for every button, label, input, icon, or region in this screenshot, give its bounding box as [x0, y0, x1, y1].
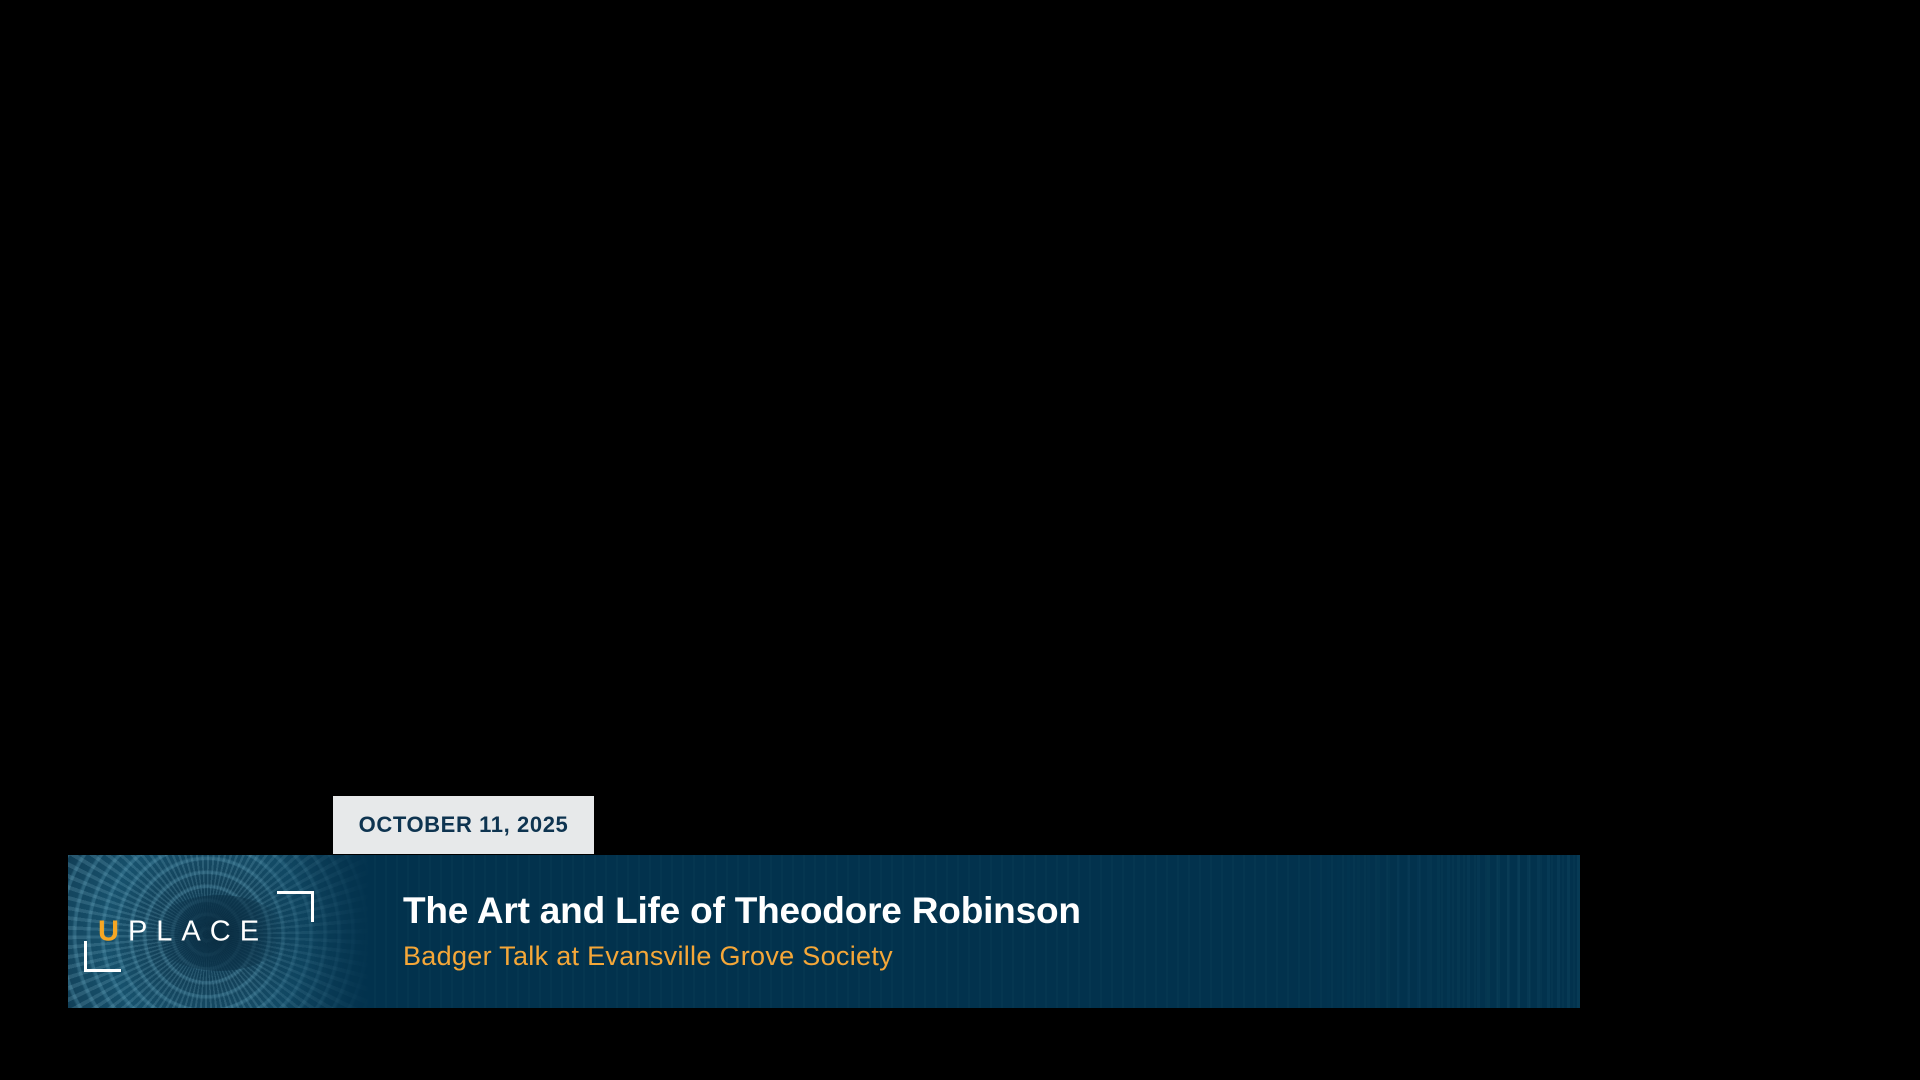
- event-date-text: OCTOBER 11, 2025: [359, 812, 569, 838]
- uplace-wordmark-accent-letter: U: [98, 915, 128, 947]
- page-root: OCTOBER 11, 2025 UPLACE The Art and Life…: [0, 0, 1920, 1080]
- event-subtitle: Badger Talk at Evansville Grove Society: [403, 941, 1580, 971]
- event-title: The Art and Life of Theodore Robinson: [403, 890, 1580, 931]
- event-banner-card[interactable]: UPLACE The Art and Life of Theodore Robi…: [68, 855, 1580, 1008]
- uplace-wordmark: UPLACE: [98, 917, 268, 946]
- corner-bracket-top-right-icon: [277, 891, 314, 922]
- event-banner-text: The Art and Life of Theodore Robinson Ba…: [370, 855, 1580, 1008]
- event-date-badge: OCTOBER 11, 2025: [333, 796, 594, 854]
- uplace-wordmark-rest: PLACE: [128, 915, 268, 947]
- uplace-logo-tile: UPLACE: [68, 855, 370, 1008]
- uplace-logo-mark: UPLACE: [68, 855, 370, 1008]
